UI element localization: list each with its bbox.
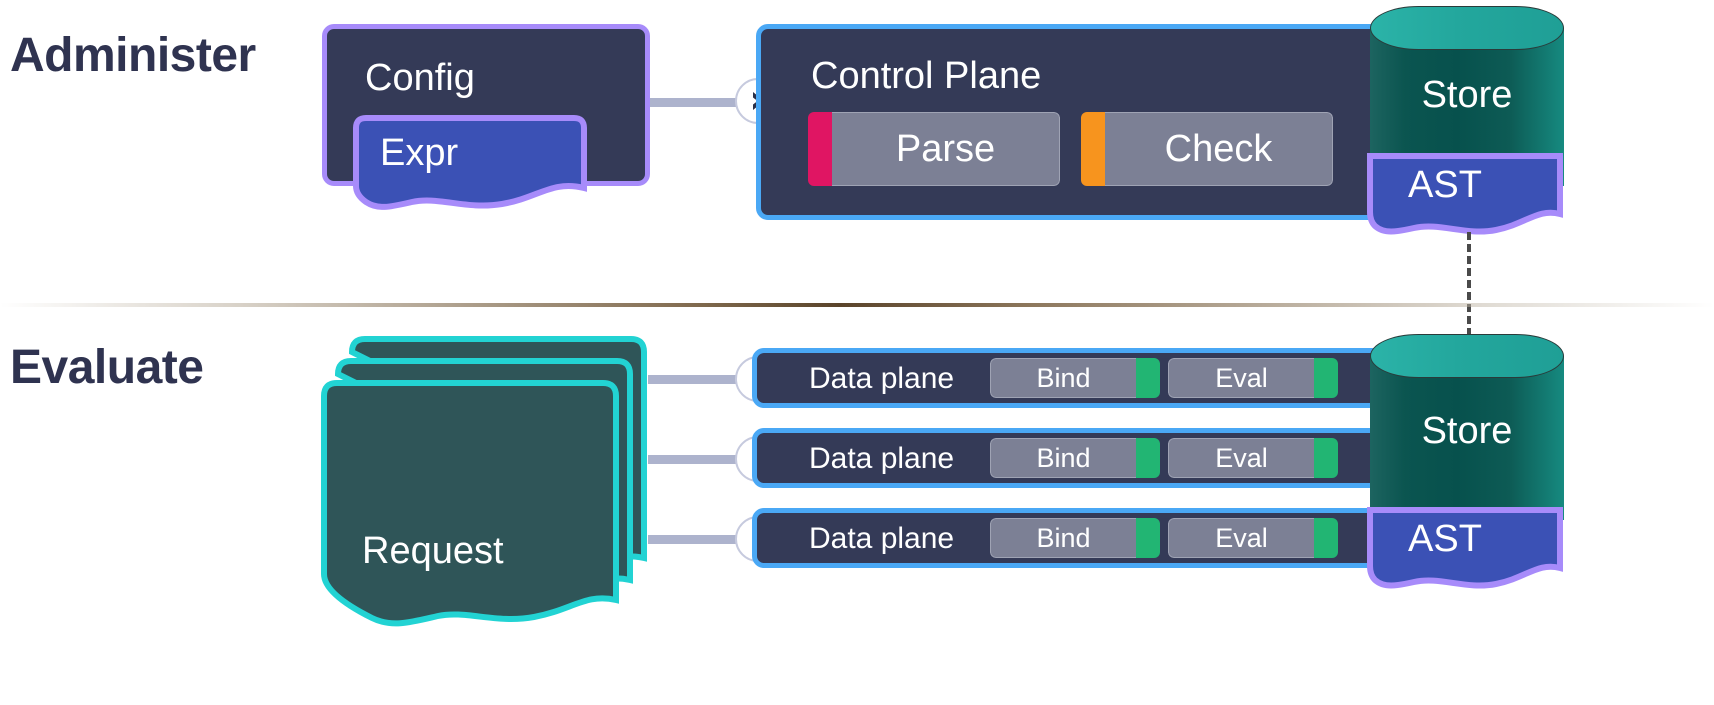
- stage-bind-1-label: Bind: [1036, 365, 1090, 392]
- ast-document-evaluate: AST: [1366, 506, 1564, 596]
- expr-document: Expr: [352, 114, 588, 214]
- stage-eval-3-accent: [1314, 518, 1338, 558]
- stage-bind-1: Bind: [990, 358, 1160, 398]
- data-plane-title-3: Data plane: [809, 522, 954, 556]
- stage-eval-1-label: Eval: [1215, 365, 1268, 392]
- connector-line-config-to-control-plane: [650, 98, 748, 107]
- stage-bind-2-label: Bind: [1036, 445, 1090, 472]
- ast-document-administer: AST: [1366, 152, 1564, 240]
- stage-check-body: Check: [1105, 112, 1333, 186]
- diagram-canvas: Administer Config Expr Control Plane Par…: [0, 0, 1714, 705]
- ast-document-label-evaluate: AST: [1408, 518, 1482, 561]
- ast-document-label-administer: AST: [1408, 164, 1482, 207]
- stage-eval-2-label: Eval: [1215, 445, 1268, 472]
- data-plane-title-1: Data plane: [809, 362, 954, 396]
- stage-bind-2: Bind: [990, 438, 1160, 478]
- store-cylinder-label-evaluate: Store: [1370, 410, 1564, 453]
- stage-eval-1-body: Eval: [1168, 358, 1314, 398]
- control-plane-title: Control Plane: [811, 55, 1041, 98]
- store-cylinder-top-evaluate: [1370, 334, 1564, 378]
- stage-bind-3-accent: [1136, 518, 1160, 558]
- store-cylinder-label-administer: Store: [1370, 74, 1564, 117]
- store-cylinder-evaluate: Store: [1370, 334, 1564, 520]
- section-label-evaluate: Evaluate: [10, 340, 203, 395]
- stage-bind-2-body: Bind: [990, 438, 1136, 478]
- stage-eval-1-accent: [1314, 358, 1338, 398]
- stage-check-label: Check: [1165, 130, 1273, 168]
- stage-parse-label: Parse: [896, 130, 995, 168]
- stage-check: Check: [1081, 112, 1333, 186]
- stage-bind-1-body: Bind: [990, 358, 1136, 398]
- stage-bind-3-body: Bind: [990, 518, 1136, 558]
- expr-document-label: Expr: [380, 132, 458, 175]
- data-plane-title-2: Data plane: [809, 442, 954, 476]
- connector-line-request-to-data-plane-1: [648, 375, 748, 384]
- stage-eval-3: Eval: [1168, 518, 1338, 558]
- stage-bind-3-label: Bind: [1036, 525, 1090, 552]
- stage-parse: Parse: [808, 112, 1060, 186]
- stage-eval-1: Eval: [1168, 358, 1338, 398]
- stage-bind-1-accent: [1136, 358, 1160, 398]
- config-panel-title: Config: [365, 57, 475, 100]
- stage-eval-2-body: Eval: [1168, 438, 1314, 478]
- request-stack-front: Request: [320, 378, 620, 636]
- stage-eval-2-accent: [1314, 438, 1338, 478]
- stage-eval-3-body: Eval: [1168, 518, 1314, 558]
- request-label: Request: [362, 530, 504, 573]
- stage-bind-2-accent: [1136, 438, 1160, 478]
- stage-bind-3: Bind: [990, 518, 1160, 558]
- section-divider: [0, 303, 1714, 307]
- stage-parse-body: Parse: [832, 112, 1060, 186]
- stage-eval-2: Eval: [1168, 438, 1338, 478]
- stage-eval-3-label: Eval: [1215, 525, 1268, 552]
- stage-check-accent: [1081, 112, 1105, 186]
- connector-line-request-to-data-plane-2: [648, 455, 748, 464]
- stage-parse-accent: [808, 112, 832, 186]
- section-label-administer: Administer: [10, 28, 256, 83]
- connector-line-request-to-data-plane-3: [648, 535, 748, 544]
- store-cylinder-top-administer: [1370, 6, 1564, 50]
